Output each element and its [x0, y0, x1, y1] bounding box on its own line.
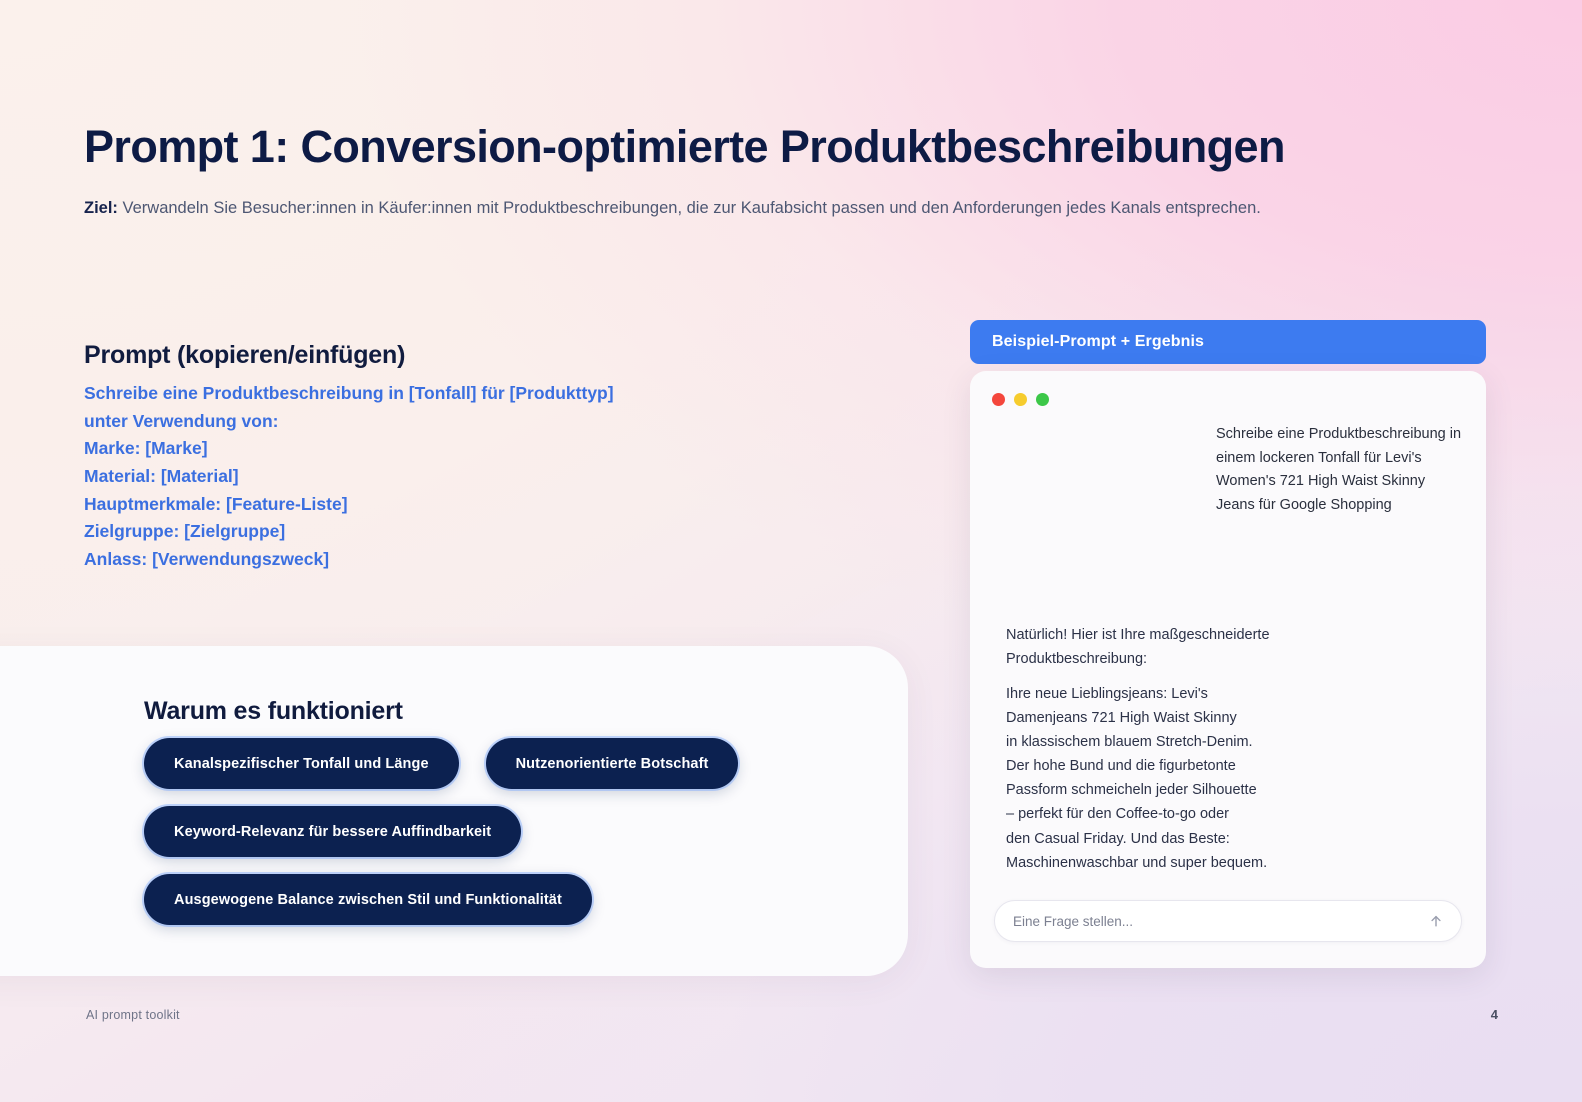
prompt-line: Zielgruppe: [Zielgruppe] [84, 518, 824, 546]
benefit-pill[interactable]: Keyword-Relevanz für bessere Auffindbark… [144, 806, 521, 857]
prompt-line: Material: [Material] [84, 463, 824, 491]
prompt-line: Hauptmerkmale: [Feature-Liste] [84, 491, 824, 519]
benefit-pill-row: Keyword-Relevanz für bessere Auffindbark… [144, 806, 904, 857]
window-minimize-icon[interactable] [1014, 393, 1027, 406]
slide-canvas: Prompt 1: Conversion-optimierte Produktb… [0, 0, 1582, 1102]
why-it-works-heading: Warum es funktioniert [144, 697, 403, 726]
send-icon[interactable] [1429, 914, 1443, 928]
example-panel-header: Beispiel-Prompt + Ergebnis [970, 320, 1486, 364]
window-traffic-lights [992, 393, 1049, 406]
ai-message-line: Maschinenwaschbar und super bequem. [1006, 851, 1426, 875]
ai-message-line: Natürlich! Hier ist Ihre maßgeschneidert… [1006, 623, 1426, 647]
prompt-section-heading: Prompt (kopieren/einfügen) [84, 341, 405, 370]
prompt-template-text[interactable]: Schreibe eine Produktbeschreibung in [To… [84, 380, 824, 573]
benefit-pill-list: Kanalspezifischer Tonfall und Länge Nutz… [144, 738, 904, 942]
benefit-pill[interactable]: Nutzenorientierte Botschaft [486, 738, 739, 789]
chat-ai-message: Natürlich! Hier ist Ihre maßgeschneidert… [1006, 623, 1426, 875]
chat-input-placeholder: Eine Frage stellen... [1013, 914, 1429, 929]
prompt-line: Schreibe eine Produktbeschreibung in [To… [84, 380, 824, 408]
prompt-line: unter Verwendung von: [84, 408, 824, 436]
ai-message-line: Passform schmeicheln jeder Silhouette [1006, 778, 1426, 802]
page-subtitle: Ziel: Verwandeln Sie Besucher:innen in K… [84, 195, 1474, 222]
ai-message-line: – perfekt für den Coffee-to-go oder [1006, 802, 1426, 826]
benefit-pill[interactable]: Kanalspezifischer Tonfall und Länge [144, 738, 459, 789]
footer-page-number: 4 [1491, 1007, 1498, 1022]
ai-message-line: Damenjeans 721 High Waist Skinny [1006, 706, 1426, 730]
chat-window-mockup: Schreibe eine Produktbeschreibung in ein… [970, 371, 1486, 968]
window-close-icon[interactable] [992, 393, 1005, 406]
chat-input-field[interactable]: Eine Frage stellen... [994, 900, 1462, 942]
window-maximize-icon[interactable] [1036, 393, 1049, 406]
ai-message-line: in klassischem blauem Stretch-Denim. [1006, 730, 1426, 754]
page-title: Prompt 1: Conversion-optimierte Produktb… [84, 122, 1484, 172]
benefit-pill-row: Ausgewogene Balance zwischen Stil und Fu… [144, 874, 904, 925]
footer-label: AI prompt toolkit [86, 1008, 180, 1022]
benefit-pill[interactable]: Ausgewogene Balance zwischen Stil und Fu… [144, 874, 592, 925]
ai-message-line: Ihre neue Lieblingsjeans: Levi's [1006, 682, 1426, 706]
ai-message-line: Der hohe Bund und die figurbetonte [1006, 754, 1426, 778]
page-subtitle-text: Verwandeln Sie Besucher:innen in Käufer:… [118, 199, 1261, 217]
prompt-line: Anlass: [Verwendungszweck] [84, 546, 824, 574]
ai-message-line: Produktbeschreibung: [1006, 647, 1426, 671]
prompt-line: Marke: [Marke] [84, 435, 824, 463]
benefit-pill-row: Kanalspezifischer Tonfall und Länge Nutz… [144, 738, 904, 789]
page-subtitle-lead: Ziel: [84, 199, 118, 217]
ai-message-line: den Casual Friday. Und das Beste: [1006, 827, 1426, 851]
chat-user-message: Schreibe eine Produktbeschreibung in ein… [1216, 423, 1464, 518]
